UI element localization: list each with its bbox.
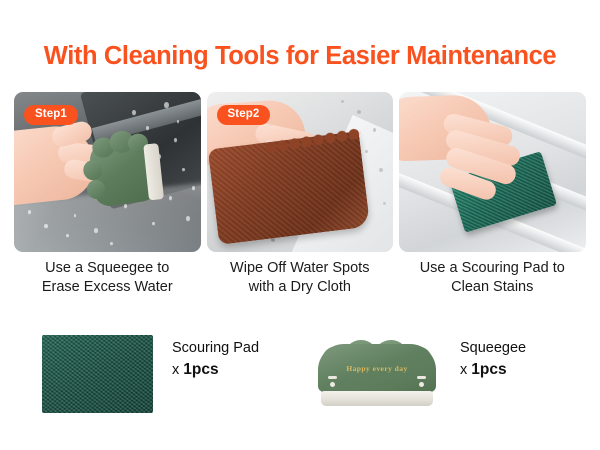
inventory-name: Squeegee (460, 338, 526, 359)
step-panel-1: Step1 (14, 92, 201, 252)
step-panels-row: Step1 (14, 92, 586, 252)
caption-line: with a Dry Cloth (207, 278, 394, 297)
squeegee-tool-graphic (88, 138, 158, 208)
qty-prefix: x (172, 362, 183, 378)
step-panel-3 (399, 92, 586, 252)
inventory-item-squeegee: Happy every day Squeegee x 1pcs (318, 330, 586, 425)
page-title: With Cleaning Tools for Easier Maintenan… (0, 42, 600, 71)
caption-step-2: Wipe Off Water Spots with a Dry Cloth (207, 259, 394, 297)
caption-line: Erase Excess Water (14, 278, 201, 297)
caption-step-3: Use a Scouring Pad to Clean Stains (399, 259, 586, 297)
caption-line: Clean Stains (399, 278, 586, 297)
inventory-quantity: x 1pcs (460, 359, 526, 381)
inventory-label-squeegee: Squeegee x 1pcs (460, 338, 526, 381)
ribbed-surface-scene (399, 92, 586, 252)
inventory-label-scouring-pad: Scouring Pad x 1pcs (172, 338, 259, 381)
squeegee-engraved-text: Happy every day (318, 364, 436, 373)
scouring-pad-swatch (42, 335, 153, 413)
inventory-item-scouring-pad: Scouring Pad x 1pcs (42, 330, 292, 425)
caption-step-1: Use a Squeegee to Erase Excess Water (14, 259, 201, 297)
qty-prefix: x (460, 362, 471, 378)
inventory-row: Scouring Pad x 1pcs Happy every day (0, 330, 600, 425)
squeegee-blade (321, 391, 433, 406)
squeegee-slot (417, 376, 426, 379)
inventory-quantity: x 1pcs (172, 359, 259, 381)
qty-value: 1pcs (183, 361, 218, 378)
inventory-name: Scouring Pad (172, 338, 259, 359)
caption-line: Use a Squeegee to (14, 259, 201, 278)
microfiber-cloth-graphic (207, 131, 370, 245)
step-badge-2: Step2 (217, 105, 271, 125)
step-panel-2: Step2 (207, 92, 394, 252)
captions-row: Use a Squeegee to Erase Excess Water Wip… (14, 259, 586, 297)
caption-line: Use a Scouring Pad to (399, 259, 586, 278)
squeegee-hole (419, 382, 424, 387)
caption-line: Wipe Off Water Spots (207, 259, 394, 278)
qty-value: 1pcs (471, 361, 506, 378)
squeegee-product-graphic: Happy every day (318, 344, 436, 406)
infographic-page: With Cleaning Tools for Easier Maintenan… (0, 0, 600, 450)
step-badge-1: Step1 (24, 105, 78, 125)
squeegee-hole (330, 382, 335, 387)
squeegee-slot (328, 376, 337, 379)
